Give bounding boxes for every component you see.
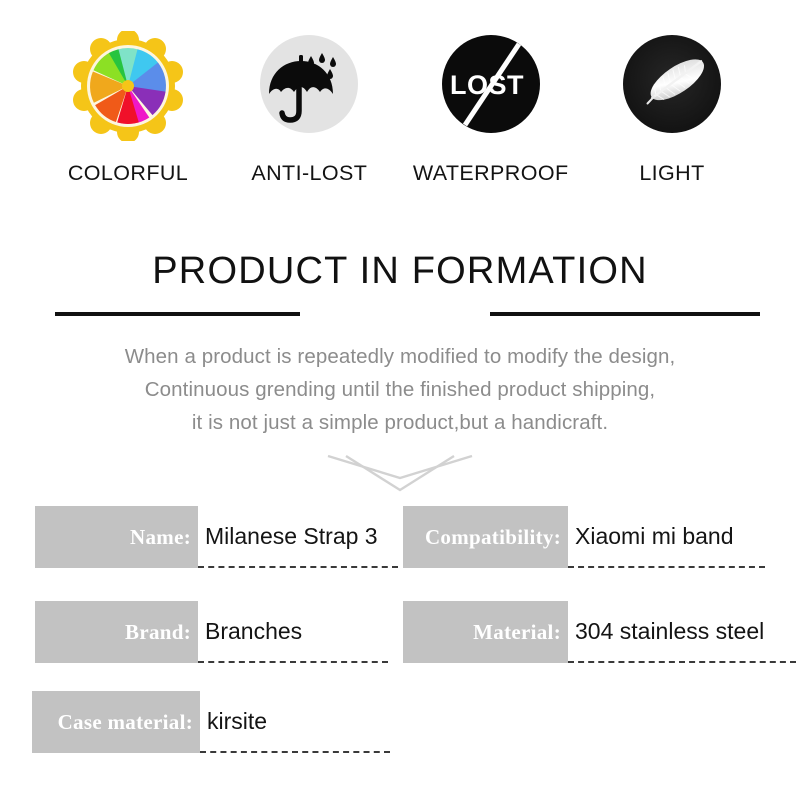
spec-label-name: Name:	[35, 506, 198, 568]
spec-cell-material: Material: 304 stainless steel	[403, 601, 796, 663]
color-wheel-icon	[71, 28, 186, 143]
title-block: PRODUCT IN FORMATION	[0, 252, 800, 292]
feature-anti-lost: ANTI-LOST	[229, 28, 389, 203]
feature-label-colorful: COLORFUL	[68, 161, 188, 186]
page-title: PRODUCT IN FORMATION	[0, 252, 800, 292]
feature-label-waterproof: WATERPROOF	[413, 161, 569, 186]
title-rule-right	[490, 312, 760, 316]
feature-light: LIGHT	[592, 28, 752, 203]
umbrella-rain-icon	[252, 28, 367, 143]
spec-label-material: Material:	[403, 601, 568, 663]
spec-label-compatibility: Compatibility:	[403, 506, 568, 568]
spec-label-case-material: Case material:	[32, 691, 200, 753]
spec-value-case-material: kirsite	[200, 691, 390, 753]
feature-colorful: COLORFUL	[48, 28, 208, 203]
no-lost-icon: LOST	[433, 28, 548, 143]
spec-table: Name: Milanese Strap 3 Compatibility: Xi…	[0, 500, 800, 770]
spec-value-brand: Branches	[198, 601, 388, 663]
description-line-3: it is not just a simple product,but a ha…	[0, 406, 800, 439]
spec-value-compatibility: Xiaomi mi band	[568, 506, 765, 568]
description-block: When a product is repeatedly modified to…	[0, 340, 800, 439]
feather-icon	[614, 28, 729, 143]
description-line-1: When a product is repeatedly modified to…	[0, 340, 800, 373]
spec-cell-case-material: Case material: kirsite	[32, 691, 390, 753]
spec-cell-name: Name: Milanese Strap 3	[35, 506, 398, 568]
spec-cell-brand: Brand: Branches	[35, 601, 388, 663]
table-row: Name: Milanese Strap 3 Compatibility: Xi…	[0, 506, 800, 568]
feature-label-anti-lost: ANTI-LOST	[251, 161, 367, 186]
table-row: Case material: kirsite	[0, 691, 800, 753]
title-rules	[0, 312, 800, 318]
title-rule-left	[55, 312, 300, 316]
spec-value-name: Milanese Strap 3	[198, 506, 398, 568]
spec-value-material: 304 stainless steel	[568, 601, 796, 663]
description-line-2: Continuous grending until the finished p…	[0, 373, 800, 406]
spec-label-brand: Brand:	[35, 601, 198, 663]
double-chevron-down-icon	[320, 452, 480, 494]
feature-strip: COLORFUL ANTI-LOS	[0, 28, 800, 203]
table-row: Brand: Branches Material: 304 stainless …	[0, 601, 800, 663]
spec-cell-compatibility: Compatibility: Xiaomi mi band	[403, 506, 765, 568]
feature-label-light: LIGHT	[639, 161, 704, 186]
feature-waterproof: LOST WATERPROOF	[411, 28, 571, 203]
